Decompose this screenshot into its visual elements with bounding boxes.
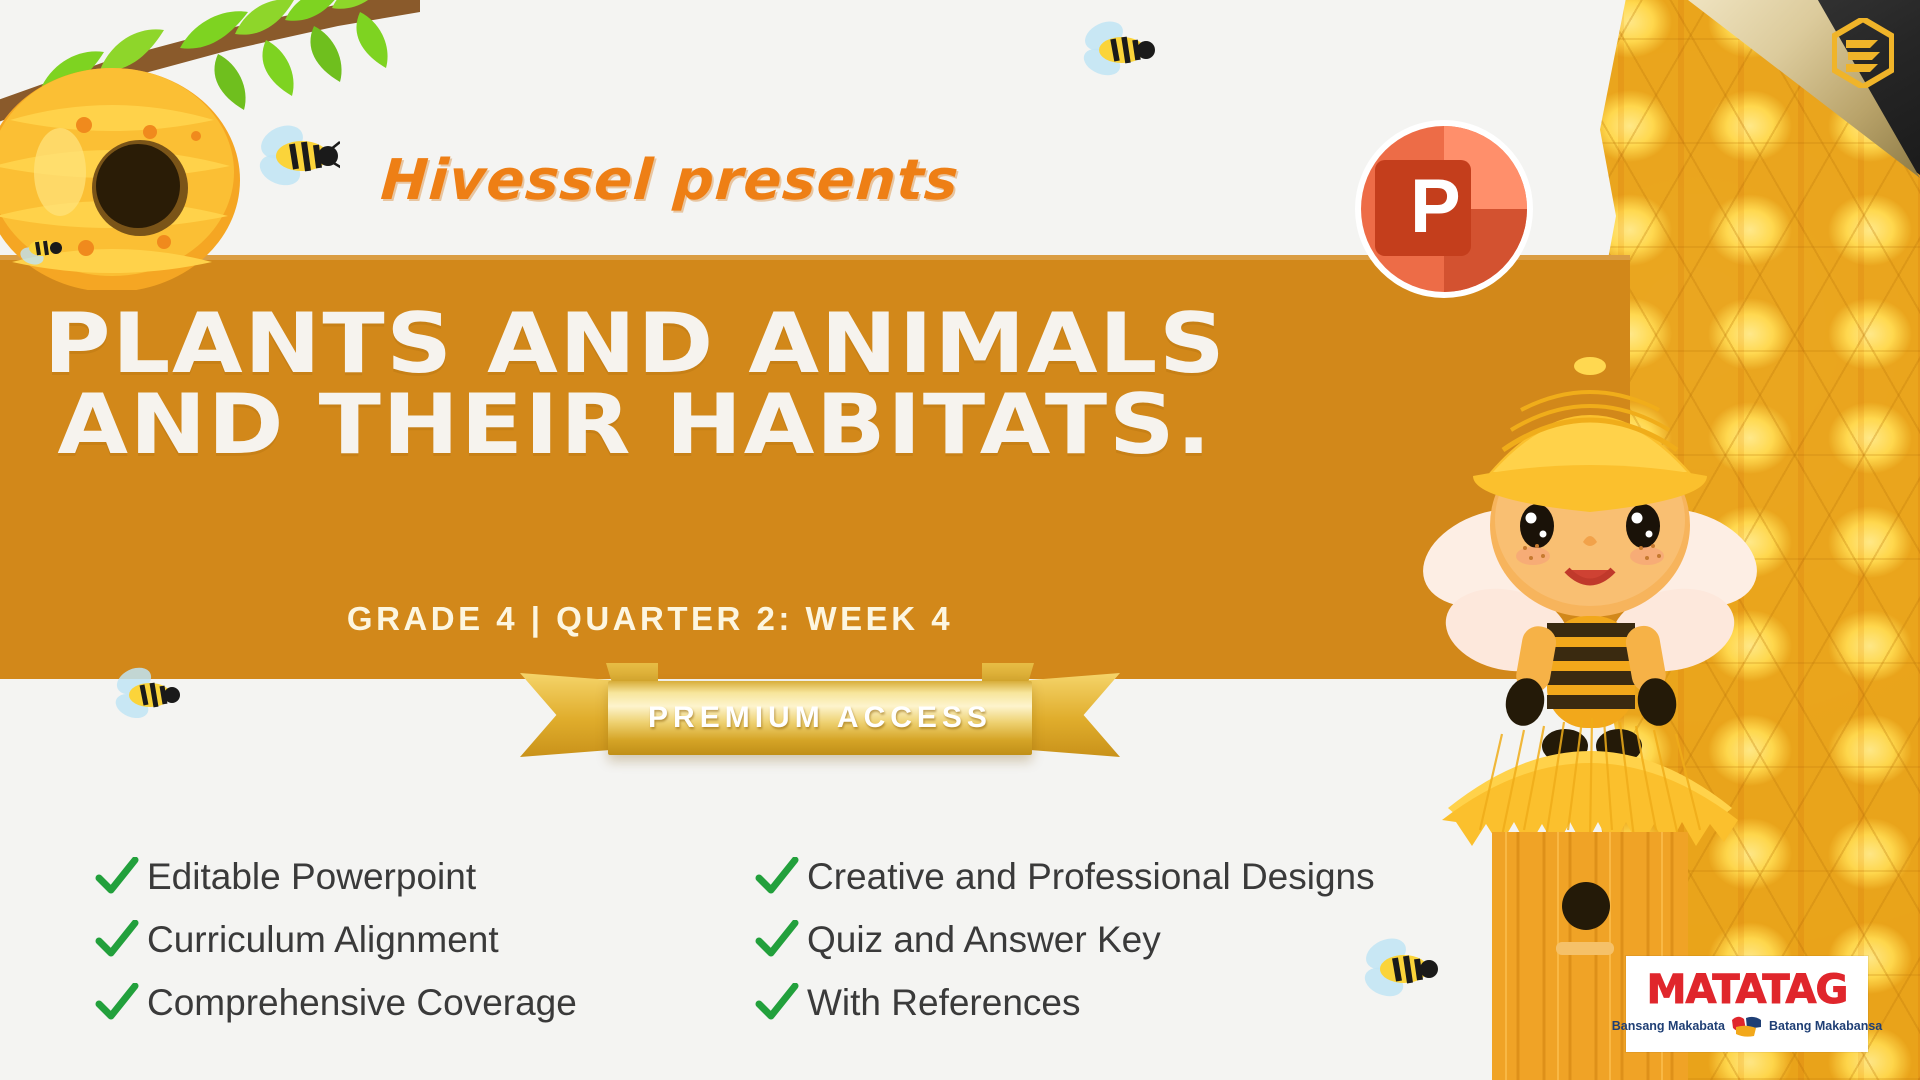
check-icon xyxy=(95,920,139,960)
list-item: Editable Powerpoint xyxy=(95,845,715,908)
check-icon xyxy=(755,857,799,897)
check-icon xyxy=(95,983,139,1023)
list-item: Quiz and Answer Key xyxy=(755,908,1375,971)
feature-column-right: Creative and Professional Designs Quiz a… xyxy=(755,845,1375,1034)
matatag-tagline-right: Batang Makabansa xyxy=(1769,1019,1882,1033)
grade-quarter-week-subtitle: GRADE 4 | QUARTER 2: WEEK 4 xyxy=(0,600,1300,638)
list-item: Creative and Professional Designs xyxy=(755,845,1375,908)
title-line-2: AND THEIR HABITATS. xyxy=(0,385,1334,466)
feature-label: With References xyxy=(807,982,1081,1024)
check-icon xyxy=(755,983,799,1023)
check-icon xyxy=(95,857,139,897)
list-item: With References xyxy=(755,971,1375,1034)
bee-icon xyxy=(110,665,182,723)
bee-icon xyxy=(18,230,64,268)
list-item: Comprehensive Coverage xyxy=(95,971,715,1034)
feature-list: Editable Powerpoint Curriculum Alignment… xyxy=(95,845,1465,1034)
powerpoint-icon: P xyxy=(1355,120,1533,298)
bee-icon xyxy=(1078,18,1156,80)
matatag-tagline-left: Bansang Makabata xyxy=(1612,1019,1725,1033)
matatag-logo: MATATAG Bansang Makabata Batang Makabans… xyxy=(1626,956,1868,1052)
feature-label: Quiz and Answer Key xyxy=(807,919,1161,961)
ribbon-label: PREMIUM ACCESS xyxy=(648,701,992,735)
matatag-wordmark: MATATAG xyxy=(1647,970,1848,1010)
promotional-poster: P xyxy=(0,0,1920,1080)
feature-label: Curriculum Alignment xyxy=(147,919,499,961)
feature-label: Comprehensive Coverage xyxy=(147,982,577,1024)
clasped-hands-icon xyxy=(1730,1014,1764,1038)
premium-access-ribbon: PREMIUM ACCESS xyxy=(520,655,1120,780)
ribbon-center: PREMIUM ACCESS xyxy=(608,681,1032,755)
check-icon xyxy=(755,920,799,960)
feature-label: Creative and Professional Designs xyxy=(807,856,1375,898)
list-item: Curriculum Alignment xyxy=(95,908,715,971)
feature-column-left: Editable Powerpoint Curriculum Alignment… xyxy=(95,845,715,1034)
brand-presents-text: Hivessel presents xyxy=(0,148,1342,213)
powerpoint-letter: P xyxy=(1410,164,1461,249)
page-title: PLANTS AND ANIMALS AND THEIR HABITATS. xyxy=(0,304,1334,465)
matatag-taglines: Bansang Makabata Batang Makabansa xyxy=(1612,1014,1882,1038)
title-line-1: PLANTS AND ANIMALS xyxy=(0,304,1334,385)
feature-label: Editable Powerpoint xyxy=(147,856,476,898)
hexagon-hive-logo-icon xyxy=(1832,18,1894,88)
